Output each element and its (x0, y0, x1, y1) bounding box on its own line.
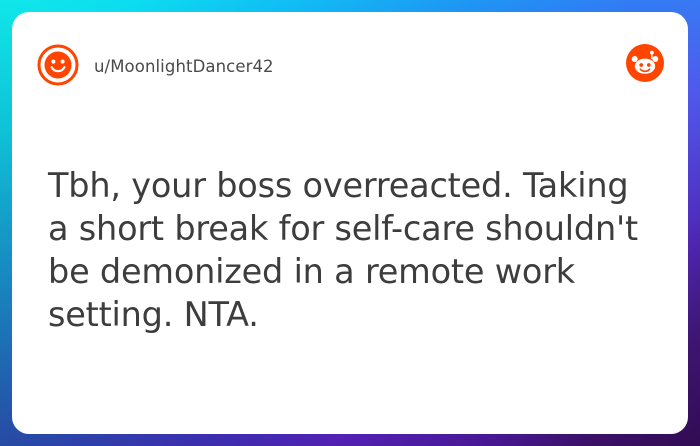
smiley-face-avatar-icon[interactable] (37, 44, 79, 86)
post-body-text: Tbh, your boss overreacted. Taking a sho… (48, 164, 658, 336)
reddit-snoo-logo-icon[interactable] (626, 44, 664, 82)
post-author-username[interactable]: u/MoonlightDancer42 (94, 55, 274, 79)
screenshot-root: u/MoonlightDancer42 Tbh, (0, 0, 700, 446)
post-header: u/MoonlightDancer42 (12, 12, 688, 98)
reddit-post-card: u/MoonlightDancer42 Tbh, (12, 12, 688, 434)
